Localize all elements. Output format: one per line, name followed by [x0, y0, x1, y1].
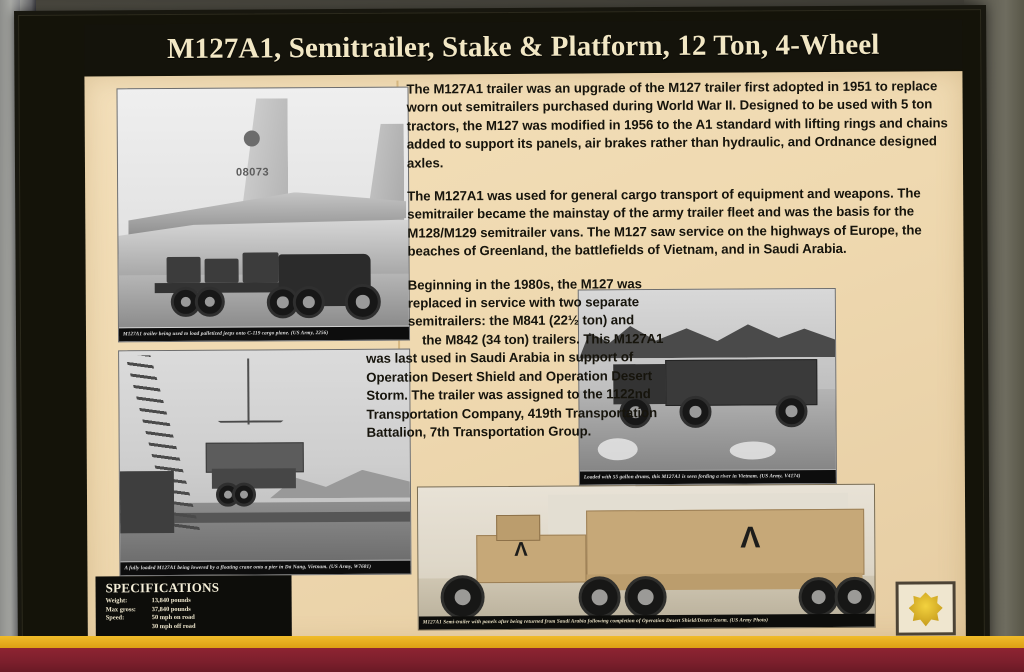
paragraph-3-line: semitrailers: the M841 (22½ ton) and	[408, 311, 748, 331]
paragraph-3-line: Beginning in the 1980s, the M127 was	[408, 274, 748, 294]
specifications-heading: SPECIFICATIONS	[106, 579, 284, 596]
aircraft-roundel-icon	[244, 130, 260, 146]
photo-caption: A fully loaded M127A1 being lowered by a…	[120, 561, 410, 576]
cargo-jeep	[205, 259, 239, 283]
trailer-wheel	[232, 483, 256, 507]
trailer-chevron-marking: Λ	[740, 521, 760, 555]
body-text-column: The M127A1 trailer was an upgrade of the…	[406, 77, 956, 442]
specification-label: Speed:	[106, 614, 152, 623]
photo-caption: M127A1 Semi-trailer with panels after be…	[419, 614, 875, 630]
specifications-box: SPECIFICATIONS Weight: 13,840 pounds Max…	[95, 575, 291, 645]
specification-label: Weight:	[106, 597, 152, 606]
trailer-wheel	[195, 287, 225, 317]
specification-row: 30 mph off road	[106, 622, 284, 632]
aircraft-tail-number: 08073	[236, 166, 269, 178]
photo-caption: M127A1 trailer being used to load pallet…	[119, 327, 409, 342]
paragraph-2: The M127A1 was used for general cargo tr…	[407, 184, 955, 261]
trailer-wheel	[799, 577, 839, 617]
crane-cable	[247, 359, 249, 425]
paragraph-3-line: Transportation Company, 419th Transporta…	[366, 403, 748, 424]
specification-label: Max gross:	[106, 606, 152, 615]
paragraph-3-line: the M842 (34 ton) trailers. This M127A1	[408, 329, 748, 349]
museum-sign-screenshot: M127A1, Semitrailer, Stake & Platform, 1…	[0, 0, 1024, 672]
paragraph-3-line: Operation Desert Shield and Operation De…	[366, 366, 748, 387]
tractor-wheel	[578, 576, 620, 618]
paragraph-3-line: replaced in service with two separate	[408, 293, 748, 313]
tractor-hood	[476, 534, 586, 583]
paragraph-3: Beginning in the 1980s, the M127 was rep…	[408, 274, 749, 442]
tractor-wheel	[345, 284, 381, 320]
tractor-cab	[496, 515, 540, 541]
photo-caption: Loaded with 55 gallon drums, this M127A1…	[580, 470, 836, 485]
crane-cab	[120, 471, 174, 533]
frame-bottom-red-band	[0, 648, 1024, 672]
tractor-chevron-marking: Λ	[514, 539, 527, 562]
tractor-wheel	[293, 286, 325, 318]
trailer-wheel	[835, 577, 875, 617]
sign-content-panel: 08073 M127A1 trailer being used to load …	[84, 71, 965, 644]
tractor-wheel	[440, 575, 484, 619]
cargo-jeep	[243, 252, 279, 282]
paragraph-3-line: was last used in Saudi Arabia in support…	[366, 348, 748, 369]
trailer-stake-body	[586, 509, 864, 577]
page-title: M127A1, Semitrailer, Stake & Platform, 1…	[167, 28, 880, 65]
sign-board: M127A1, Semitrailer, Stake & Platform, 1…	[14, 5, 990, 659]
sign-title-bar: M127A1, Semitrailer, Stake & Platform, 1…	[84, 19, 962, 74]
paragraph-3-line: Battalion, 7th Transportation Group.	[367, 421, 749, 442]
cargo-jeep	[167, 257, 201, 283]
specification-label	[106, 623, 152, 632]
water-splash	[598, 438, 638, 460]
army-crest-emblem	[896, 581, 956, 635]
photo-desert-semi: Λ Λ M127A1 Semi-trailer with panels afte…	[417, 484, 876, 631]
paragraph-1: The M127A1 trailer was an upgrade of the…	[406, 77, 955, 172]
specification-value: 30 mph off road	[152, 622, 284, 631]
paragraph-3-line: Storm. The trailer was assigned to the 1…	[366, 385, 748, 406]
photo-c119-loading: 08073 M127A1 trailer being used to load …	[117, 87, 411, 343]
crest-icon	[909, 592, 943, 626]
tractor-wheel	[624, 576, 666, 618]
